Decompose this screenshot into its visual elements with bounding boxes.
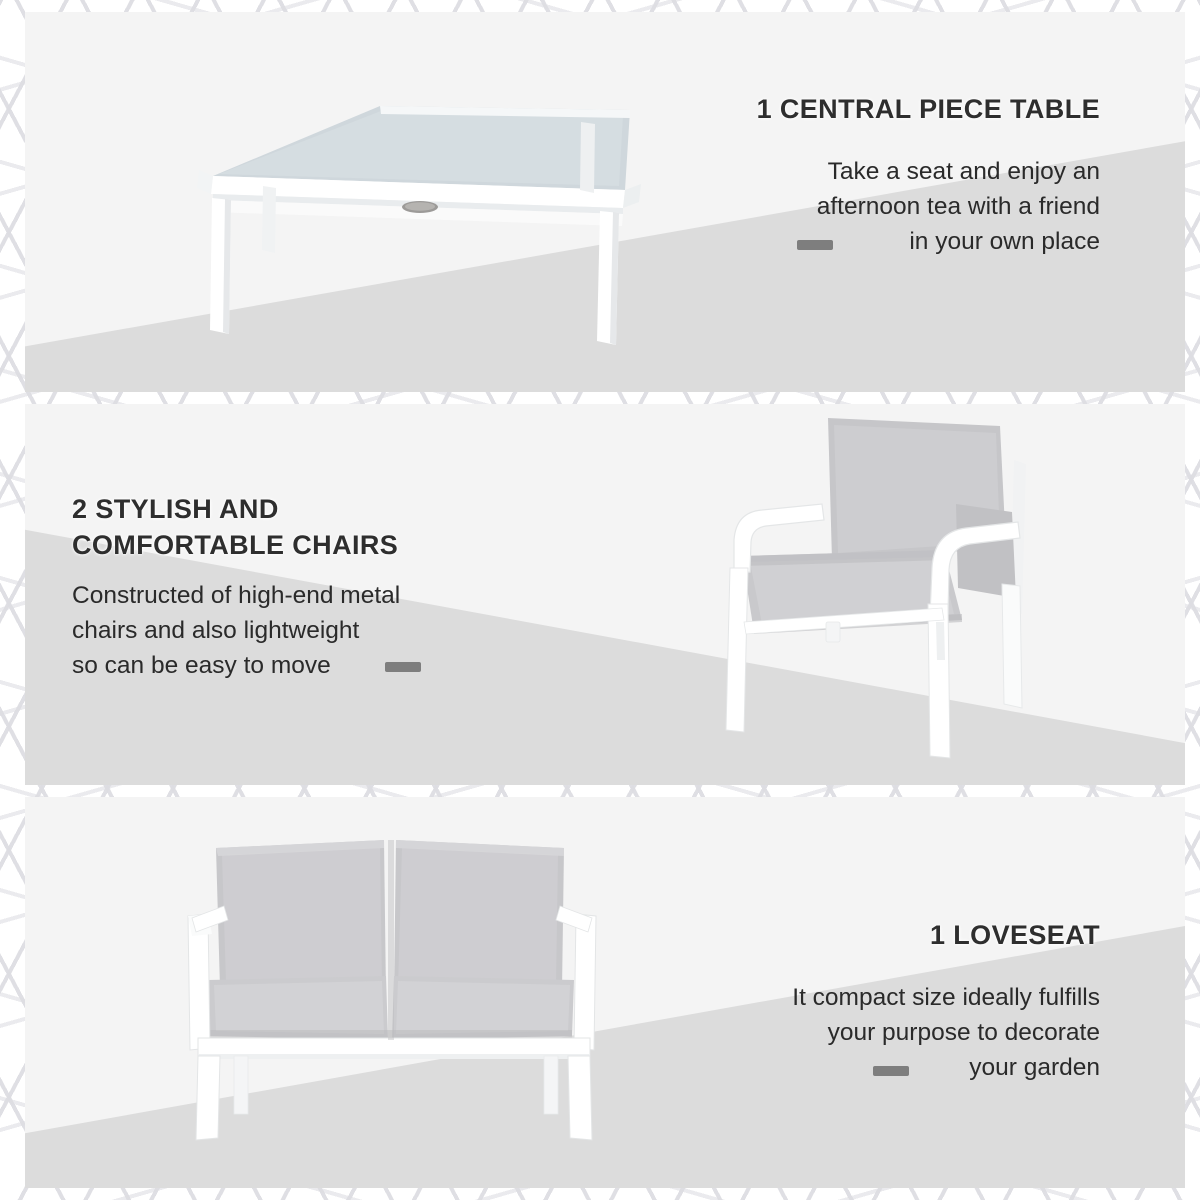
feature-text-table: 1 CENTRAL PIECE TABLE Take a seat and en… <box>700 92 1100 259</box>
feature-text-loveseat: 1 LOVESEAT It compact size ideally fulfi… <box>700 918 1100 1085</box>
panel-body-chairs: Constructed of high-end metal chairs and… <box>72 578 492 683</box>
two-seat-loveseat-sofa-image <box>172 818 622 1153</box>
feature-text-chairs: 2 STYLISH AND COMFORTABLE CHAIRS Constru… <box>72 492 492 683</box>
dash-accent-icon <box>873 1066 909 1076</box>
panel-body-table: Take a seat and enjoy an afternoon tea w… <box>700 154 1100 259</box>
panel-headline-chairs: 2 STYLISH AND COMFORTABLE CHAIRS <box>72 492 492 564</box>
panel-headline-loveseat: 1 LOVESEAT <box>700 918 1100 954</box>
panel-headline-table: 1 CENTRAL PIECE TABLE <box>700 92 1100 128</box>
dash-accent-icon <box>797 240 833 250</box>
glass-top-coffee-table-image <box>175 98 665 348</box>
dash-accent-icon <box>385 662 421 672</box>
cushioned-armchair-image <box>700 408 1070 758</box>
